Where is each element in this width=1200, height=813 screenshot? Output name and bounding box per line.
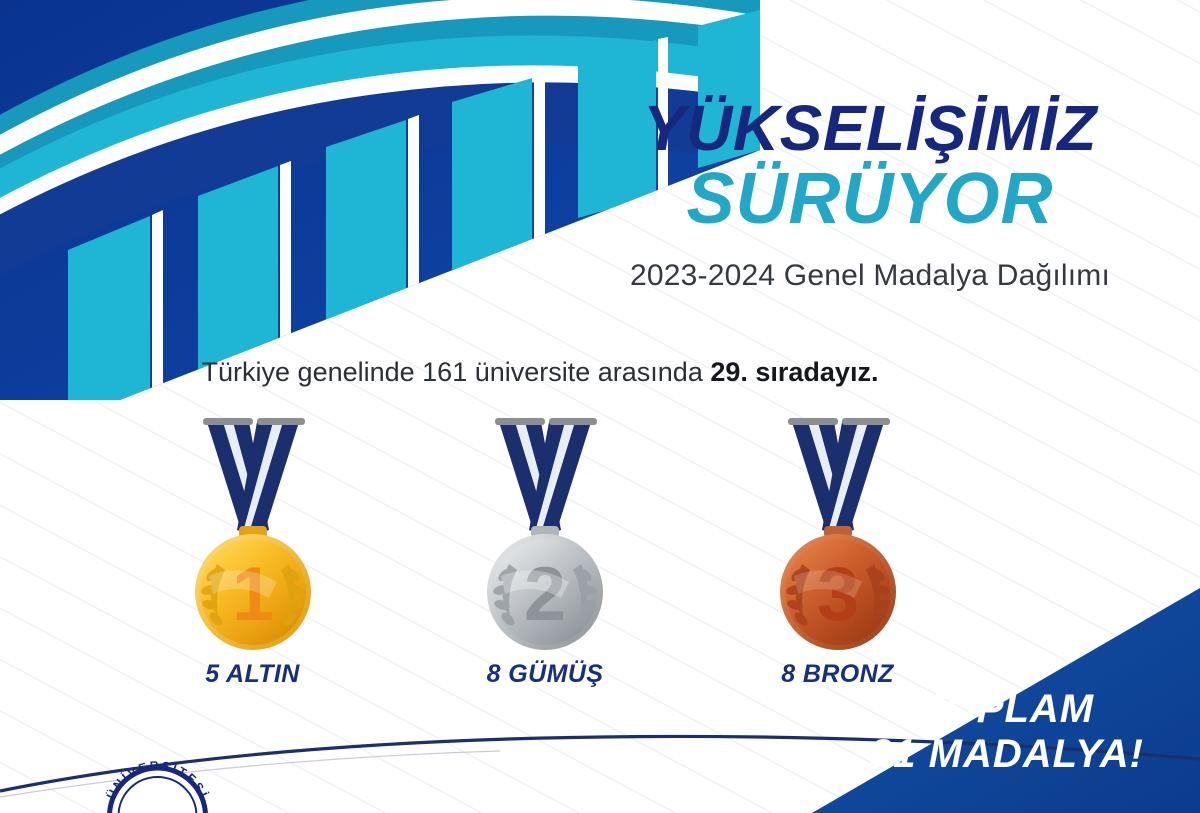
bronze-medal-icon: 3: [758, 412, 918, 654]
rank-statement-prefix: Türkiye genelinde 161 üniversite arasınd…: [202, 357, 711, 387]
gold-medal-icon: 1: [173, 412, 333, 654]
total-value: 21 MADALYA!: [870, 732, 1144, 777]
medals-row: 1 5 ALTIN: [150, 412, 940, 689]
medal-gold: 1 5 ALTIN: [150, 412, 355, 689]
medal-silver: 2 8 GÜMÜŞ: [443, 412, 648, 689]
total-medals-callout: TOPLAM 21 MADALYA!: [870, 687, 1144, 777]
title-line-2: SÜRÜYOR: [560, 163, 1180, 236]
headline-block: YÜKSELİŞİMİZ SÜRÜYOR 2023-2024 Genel Mad…: [560, 96, 1180, 293]
medal-bronze: 3 8 BRONZ: [735, 412, 940, 689]
bronze-medal-label: 8 BRONZ: [781, 660, 894, 689]
gold-medal-label: 5 ALTIN: [205, 660, 299, 689]
poster-canvas: YÜKSELİŞİMİZ SÜRÜYOR 2023-2024 Genel Mad…: [0, 0, 1200, 813]
rank-statement: Türkiye genelinde 161 üniversite arasınd…: [0, 357, 1080, 388]
silver-medal-icon: 2: [465, 412, 625, 654]
rank-statement-emphasis: 29. sıradayız.: [710, 357, 878, 387]
title-line-1: YÜKSELİŞİMİZ: [560, 96, 1180, 161]
university-logo: ÜNİVERSİTESİ: [95, 750, 220, 813]
silver-medal-label: 8 GÜMÜŞ: [487, 660, 604, 689]
total-label: TOPLAM: [870, 687, 1144, 732]
headline-subtitle: 2023-2024 Genel Madalya Dağılımı: [560, 259, 1180, 293]
